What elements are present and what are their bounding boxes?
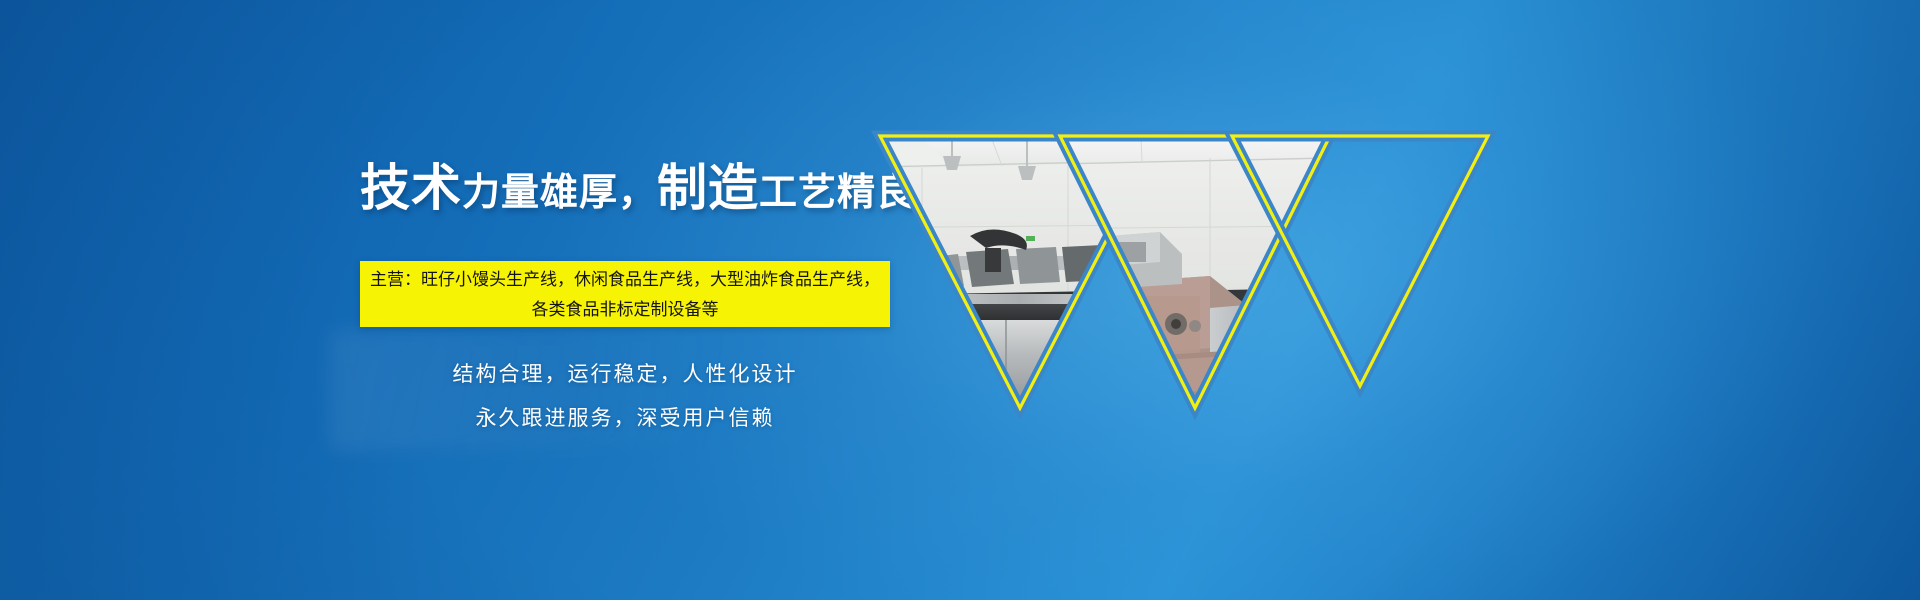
promo-banner: 技术力量雄厚，制造工艺精良 主营：旺仔小馒头生产线，休闲食品生产线，大型油炸食品…	[0, 0, 1920, 600]
headline-segment-2: 力量雄厚，	[462, 170, 657, 214]
photo-montage	[860, 118, 1500, 420]
highlight-band-line-2: 各类食品非标定制设备等	[360, 295, 890, 325]
highlight-band: 主营：旺仔小馒头生产线，休闲食品生产线，大型油炸食品生产线， 各类食品非标定制设…	[360, 261, 890, 327]
headline-segment-1: 技术	[360, 159, 462, 217]
headline: 技术力量雄厚，制造工艺精良	[360, 158, 880, 218]
headline-segment-3: 制造	[657, 159, 759, 217]
montage-blue-masks	[860, 118, 1500, 134]
subtitle-line-2: 永久跟进服务，深受用户信赖	[360, 396, 890, 440]
subtitle-line-1: 结构合理，运行稳定，人性化设计	[360, 352, 890, 396]
subtitle-group: 结构合理，运行稳定，人性化设计 永久跟进服务，深受用户信赖	[360, 352, 890, 440]
copy-block: 技术力量雄厚，制造工艺精良 主营：旺仔小馒头生产线，休闲食品生产线，大型油炸食品…	[0, 0, 900, 600]
highlight-band-line-1: 主营：旺仔小馒头生产线，休闲食品生产线，大型油炸食品生产线，	[360, 261, 890, 295]
